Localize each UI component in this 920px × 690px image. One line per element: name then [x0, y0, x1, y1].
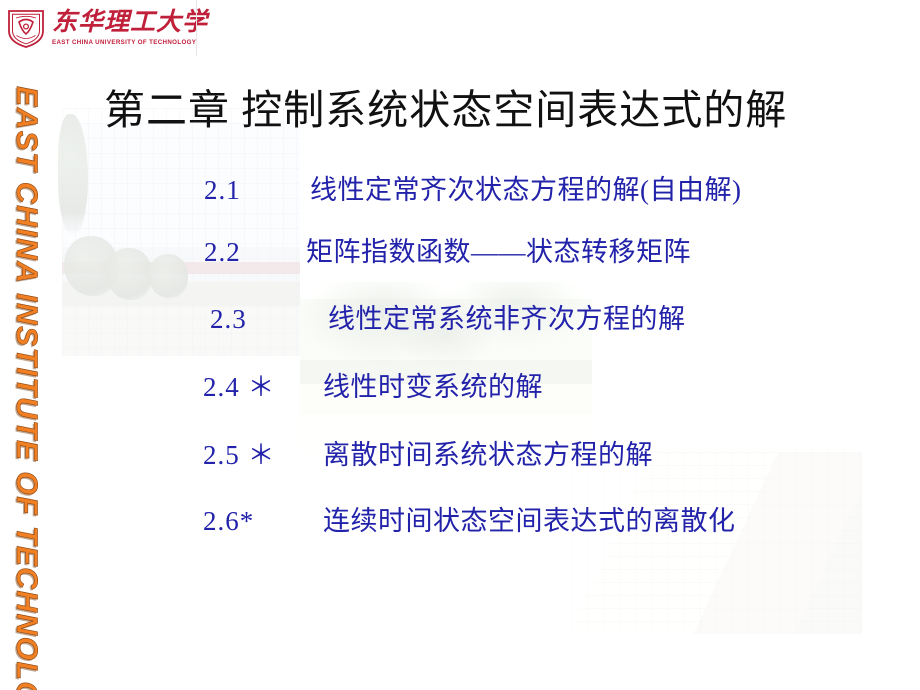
agenda-item-label: 线性时变系统的解: [323, 365, 543, 404]
agenda-item-2-6[interactable]: 2.6* 连续时间状态空间表达式的离散化: [203, 499, 920, 553]
agenda-item-label: 线性定常系统非齐次方程的解: [328, 297, 686, 336]
university-crest-icon: [6, 7, 46, 49]
university-logo: 东华理工大学 EAST CHINA UNIVERSITY OF TECHNOLO…: [0, 0, 196, 56]
agenda-item-number: 2.3: [210, 304, 328, 335]
agenda-item-2-4[interactable]: 2.4 ＊ 线性时变系统的解: [203, 365, 920, 433]
agenda-item-2-2[interactable]: 2.2 矩阵指数函数——状态转移矩阵: [204, 230, 920, 297]
agenda-item-2-5[interactable]: 2.5 ＊ 离散时间系统状态方程的解: [203, 433, 920, 499]
agenda-item-number: 2.2: [204, 237, 306, 268]
logo-divider: [196, 0, 197, 56]
agenda-item-2-3[interactable]: 2.3 线性定常系统非齐次方程的解: [210, 297, 920, 365]
agenda-item-number: 2.6*: [203, 506, 323, 537]
agenda-item-number: 2.1: [204, 175, 310, 206]
agenda-item-number: 2.5 ＊: [203, 433, 323, 472]
agenda-item-number: 2.4 ＊: [203, 365, 323, 404]
agenda-item-2-1[interactable]: 2.1 线性定常齐次状态方程的解(自由解): [204, 168, 920, 230]
logo-chinese-name: 东华理工大学: [52, 10, 208, 36]
agenda-item-label: 离散时间系统状态方程的解: [323, 433, 653, 472]
agenda-item-label: 矩阵指数函数——状态转移矩阵: [306, 230, 691, 269]
agenda-item-label: 连续时间状态空间表达式的离散化: [323, 499, 736, 538]
agenda-list: 2.1 线性定常齐次状态方程的解(自由解) 2.2 矩阵指数函数——状态转移矩阵…: [0, 168, 920, 553]
presentation-slide: EAST CHINA INSTITUTE OF TECHNOLOGY 东华理工大…: [0, 0, 920, 690]
slide-title: 第二章 控制系统状态空间表达式的解: [104, 76, 904, 136]
agenda-item-label: 线性定常齐次状态方程的解(自由解): [310, 168, 741, 207]
logo-english-name: EAST CHINA UNIVERSITY OF TECHNOLOGY: [52, 39, 208, 46]
